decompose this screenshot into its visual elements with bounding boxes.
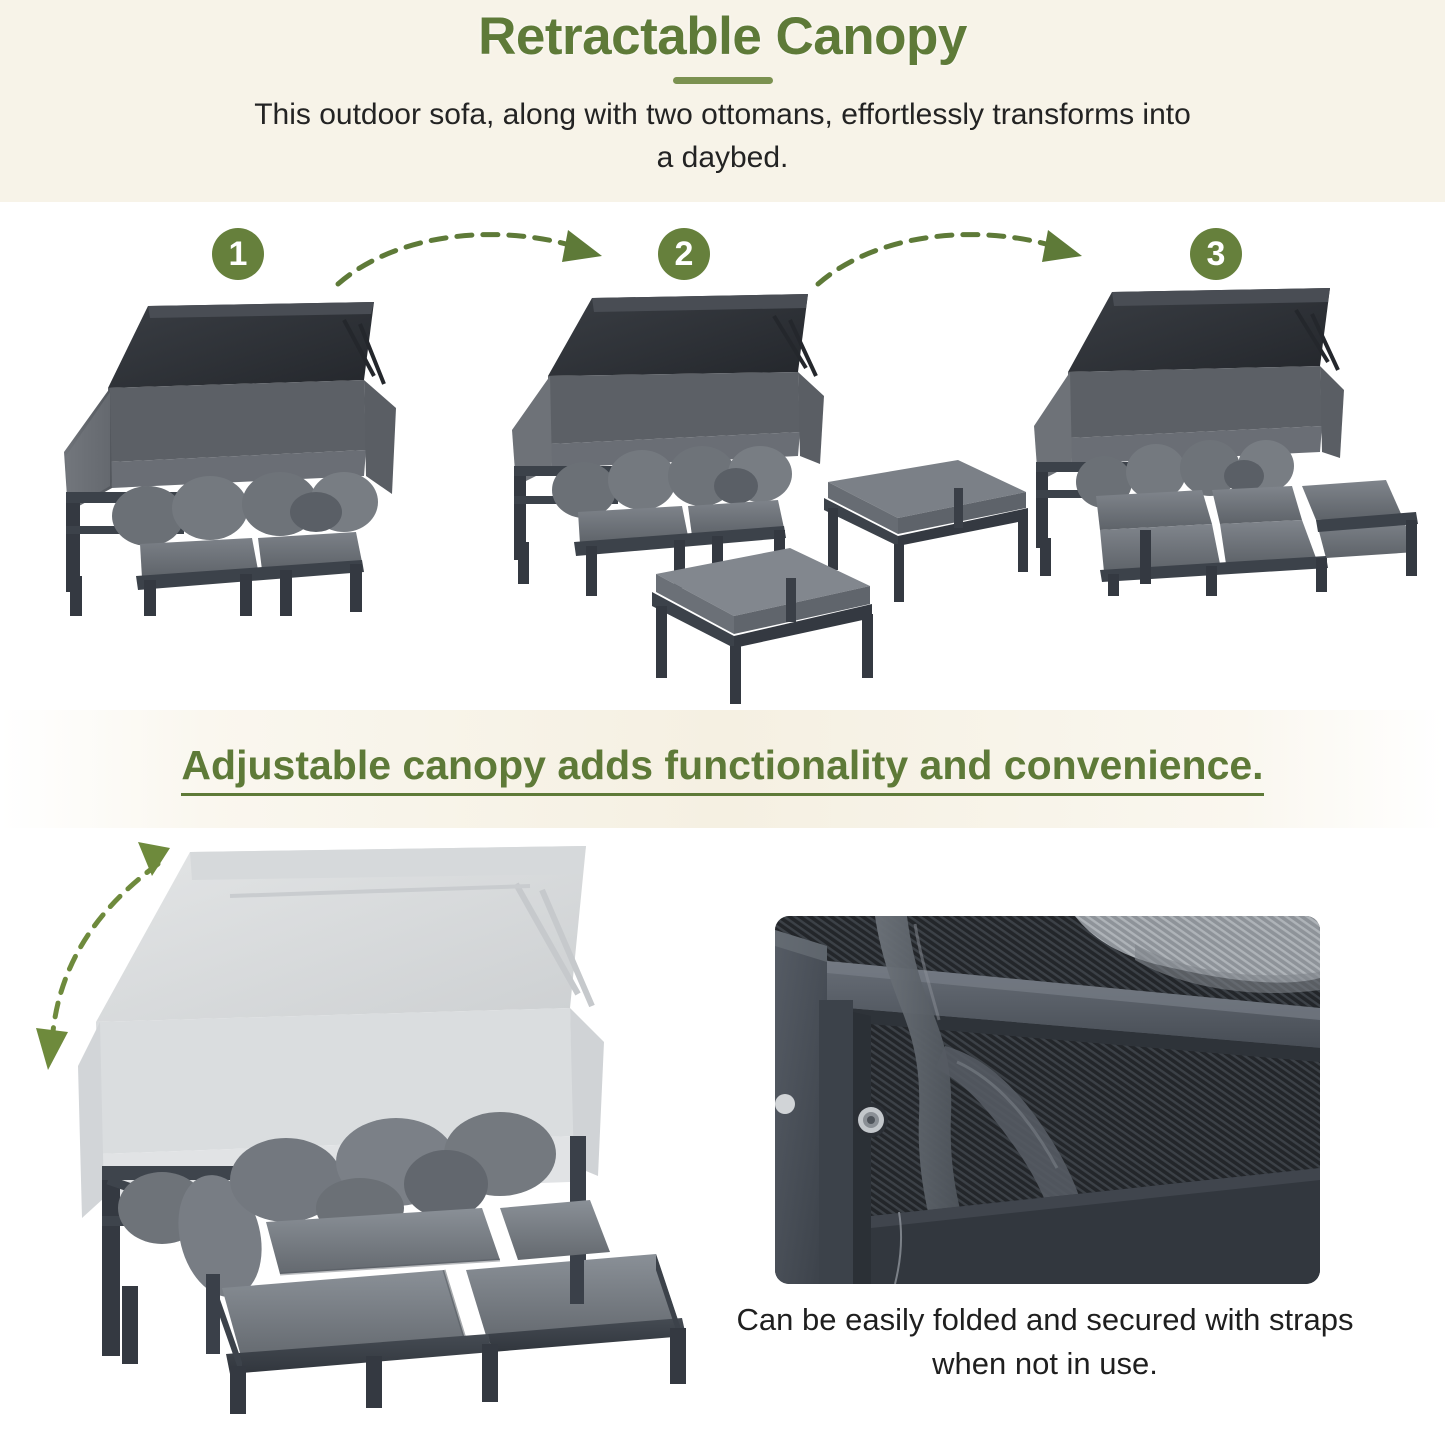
step-image-2 (506, 280, 1058, 704)
detail-photo-strap-closeup (775, 916, 1320, 1284)
step-badge-1: 1 (212, 228, 264, 280)
step-image-3 (1030, 280, 1440, 600)
header-band: Retractable Canopy This outdoor sofa, al… (0, 0, 1445, 202)
step-image-1 (44, 280, 438, 616)
detail-caption: Can be easily folded and secured with st… (700, 1298, 1390, 1386)
header-subtitle: This outdoor sofa, along with two ottoma… (253, 94, 1193, 180)
step-badge-2: 2 (658, 228, 710, 280)
title-divider (673, 77, 773, 84)
bottom-section: Can be easily folded and secured with st… (0, 828, 1445, 1445)
step-badge-3: 3 (1190, 228, 1242, 280)
hero-image-daybed-ghost-canopy (30, 836, 740, 1416)
mid-banner-text: Adjustable canopy adds functionality and… (181, 742, 1263, 796)
mid-banner: Adjustable canopy adds functionality and… (0, 710, 1445, 828)
page-title: Retractable Canopy (478, 6, 967, 67)
steps-section: 1 2 3 (0, 202, 1445, 710)
